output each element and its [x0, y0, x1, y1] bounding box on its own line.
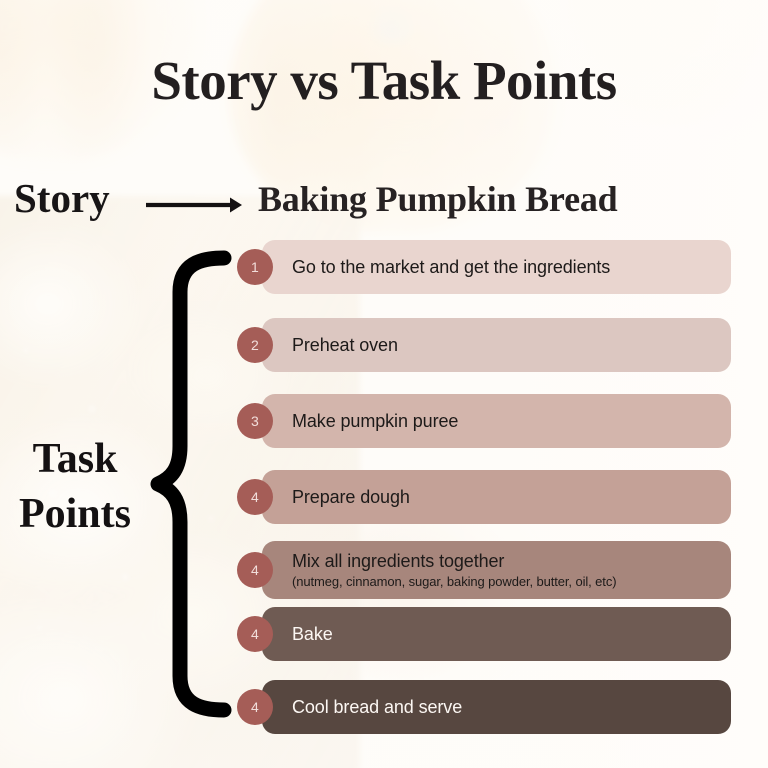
task-text-wrapper: Go to the market and get the ingredients	[292, 257, 610, 278]
task-title: Make pumpkin puree	[292, 411, 458, 432]
infographic-canvas: Story vs Task Points Story Baking Pumpki…	[0, 0, 768, 768]
task-title: Preheat oven	[292, 335, 398, 356]
task-title: Bake	[292, 624, 333, 645]
task-row[interactable]: 4Prepare dough	[262, 470, 731, 524]
task-subtitle: (nutmeg, cinnamon, sugar, baking powder,…	[292, 574, 616, 590]
task-number-badge: 4	[237, 552, 273, 588]
task-text-wrapper: Mix all ingredients together(nutmeg, cin…	[292, 551, 616, 589]
task-title: Mix all ingredients together	[292, 551, 616, 572]
task-title: Go to the market and get the ingredients	[292, 257, 610, 278]
task-number-badge: 4	[237, 616, 273, 652]
task-row[interactable]: 4Bake	[262, 607, 731, 661]
task-row[interactable]: 4Mix all ingredients together(nutmeg, ci…	[262, 541, 731, 599]
task-row[interactable]: 3Make pumpkin puree	[262, 394, 731, 448]
task-text-wrapper: Bake	[292, 624, 333, 645]
task-title: Cool bread and serve	[292, 697, 462, 718]
task-text-wrapper: Cool bread and serve	[292, 697, 462, 718]
task-title: Prepare dough	[292, 487, 410, 508]
task-number-badge: 4	[237, 479, 273, 515]
task-number-badge: 1	[237, 249, 273, 285]
task-row[interactable]: 4Cool bread and serve	[262, 680, 731, 734]
task-number-badge: 3	[237, 403, 273, 439]
task-number-badge: 2	[237, 327, 273, 363]
task-number-badge: 4	[237, 689, 273, 725]
task-row[interactable]: 1Go to the market and get the ingredient…	[262, 240, 731, 294]
task-text-wrapper: Prepare dough	[292, 487, 410, 508]
task-text-wrapper: Make pumpkin puree	[292, 411, 458, 432]
task-rows-list: 1Go to the market and get the ingredient…	[0, 0, 768, 768]
task-text-wrapper: Preheat oven	[292, 335, 398, 356]
task-row[interactable]: 2Preheat oven	[262, 318, 731, 372]
